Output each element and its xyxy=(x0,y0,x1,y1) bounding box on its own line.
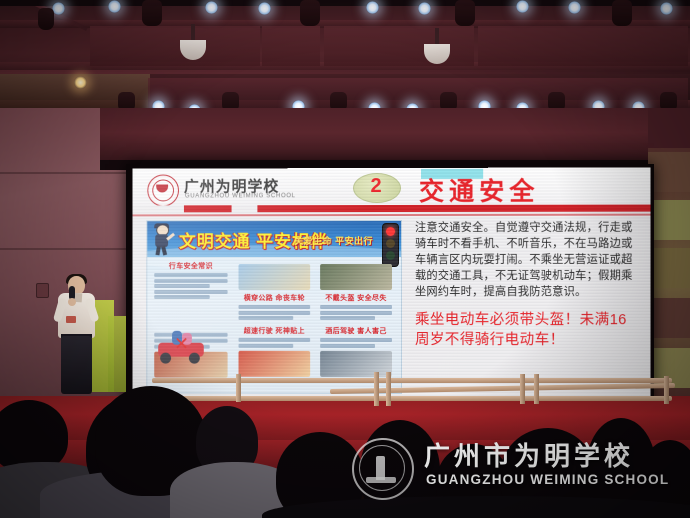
light-fixture xyxy=(300,0,320,26)
poster-column-heading: 不戴头盔 安全尽失 xyxy=(318,293,394,303)
railing-post xyxy=(534,374,539,404)
stage-light xyxy=(660,2,673,15)
poster-sub-title: 关爱生命 平安出行 xyxy=(294,234,373,247)
slide-body: 注意交通安全。自觉遵守交通法规，行走或骑车时不看手机、不听音乐，不在马路边或车辆… xyxy=(415,220,640,351)
speaker-hand xyxy=(68,298,76,306)
stage-light xyxy=(108,0,121,13)
speaker-badge xyxy=(66,316,76,323)
railing-bar xyxy=(152,396,672,401)
ceiling-panel xyxy=(90,26,260,66)
railing-post xyxy=(386,372,391,406)
poster-column-heading: 横穿公路 命丧车轮 xyxy=(237,293,313,303)
ceiling-shadow xyxy=(0,0,690,6)
poster-photo xyxy=(320,351,392,377)
ceiling-panel xyxy=(324,26,474,66)
poster-photo xyxy=(239,351,311,377)
stage-light xyxy=(418,2,431,15)
poster-photo xyxy=(320,264,392,290)
watermark-name-cn: 广州市为明学校 xyxy=(424,436,634,473)
poster-photo xyxy=(239,264,311,290)
railing-post xyxy=(664,376,669,404)
slide-warning-text: 乘坐电动车必须带头盔！未满16周岁不得骑行电动车！ xyxy=(415,311,640,351)
traffic-safety-poster: 文明交通 平安相伴 关爱生命 平安出行 行车安全常识 ✕ 横穿公路 命丧车轮 超 xyxy=(146,220,402,394)
poster-column: 行车安全常识 ✕ xyxy=(152,261,229,380)
slide-body-text: 注意交通安全。自觉遵守交通法规，行走或骑车时不看手机、不听音乐，不在马路边或车辆… xyxy=(415,220,640,301)
stage-light xyxy=(516,0,529,13)
stage-light xyxy=(205,1,218,14)
traffic-police-icon xyxy=(151,224,173,255)
ceiling-panel xyxy=(262,26,320,66)
poster-column: 横穿公路 命丧车轮 超速行驶 死神贴上 xyxy=(237,261,313,380)
ceiling-panel xyxy=(478,26,688,66)
light-fixture xyxy=(612,0,632,26)
light-fixture xyxy=(142,0,162,26)
stage-light-warm xyxy=(74,76,87,89)
watermark: 广州市为明学校 GUANGZHOU WEIMING SCHOOL xyxy=(352,432,682,502)
stage-light xyxy=(366,1,379,14)
header-rule-gap xyxy=(232,205,258,212)
light-fixture xyxy=(38,8,54,30)
school-name-en: GUANGZHOU WEIMING SCHOOL xyxy=(185,193,296,199)
slide-title: 交通安全 xyxy=(419,172,539,208)
poster-column: 不戴头盔 安全尽失 酒后驾驶 害人害己 xyxy=(318,261,394,380)
projection-screen: 广州为明学校 GUANGZHOU WEIMING SCHOOL 2 交通安全 文… xyxy=(132,167,650,402)
stage-light xyxy=(258,2,271,15)
speaker-person xyxy=(52,276,100,396)
wall-outlet xyxy=(36,283,49,298)
railing-bar xyxy=(152,378,672,383)
poster-column-heading: 酒后驾驶 害人害己 xyxy=(318,326,394,336)
light-fixture xyxy=(455,0,475,26)
speaker-trousers xyxy=(61,336,92,394)
watermark-name-en: GUANGZHOU WEIMING SCHOOL xyxy=(426,472,669,487)
school-logo-icon xyxy=(147,174,179,206)
header-underline xyxy=(132,214,650,217)
header-rule xyxy=(132,205,650,213)
railing-post xyxy=(236,374,241,402)
ebike-illustration: ✕ xyxy=(158,331,206,361)
poster-column-heading: 行车安全常识 xyxy=(152,261,229,271)
school-seal-icon xyxy=(352,438,414,500)
railing-post xyxy=(374,372,379,406)
stage-light xyxy=(568,1,581,14)
section-number: 2 xyxy=(353,175,399,198)
poster-column-heading: 超速行驶 死神贴上 xyxy=(237,326,313,336)
ceiling xyxy=(0,0,690,112)
photo-scene: 广州为明学校 GUANGZHOU WEIMING SCHOOL 2 交通安全 文… xyxy=(0,0,690,518)
railing-post xyxy=(520,374,525,404)
podium-side xyxy=(108,316,126,392)
